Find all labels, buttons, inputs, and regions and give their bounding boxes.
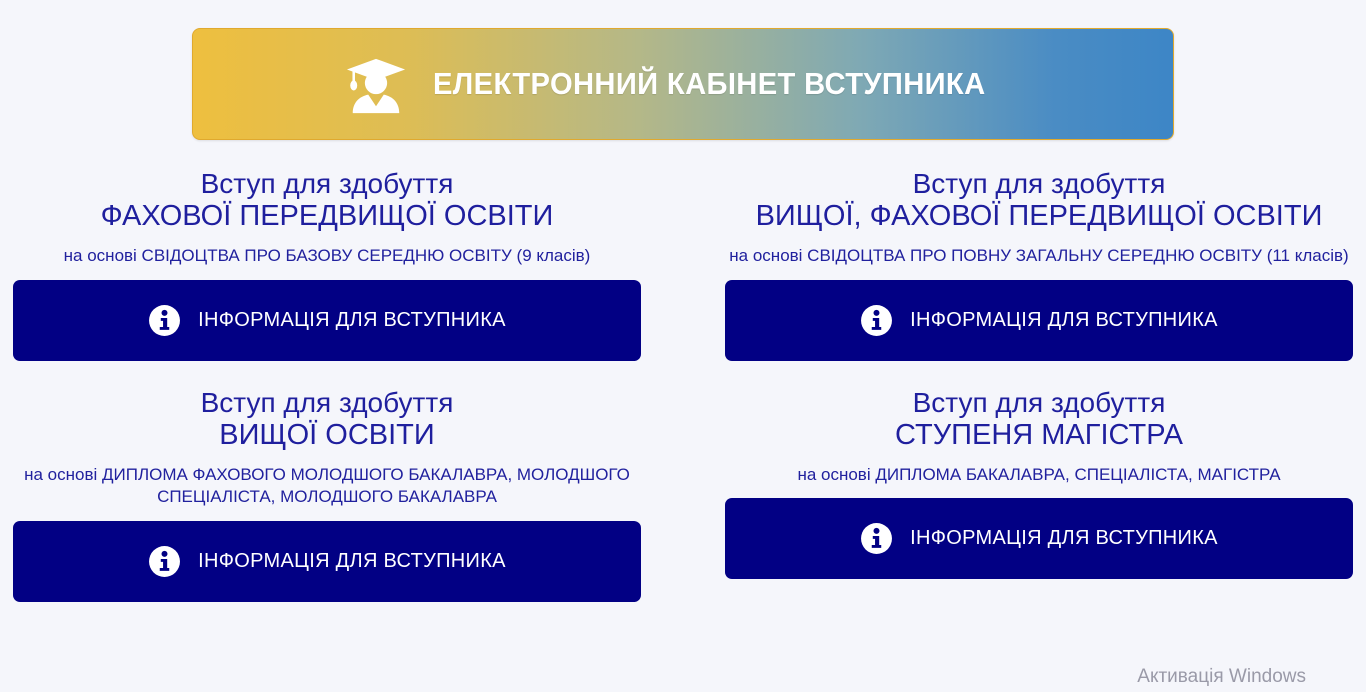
section-stupenya-magistra: Вступ для здобуття СТУПЕНЯ МАГІСТРА на о… bbox=[725, 361, 1353, 602]
info-icon bbox=[860, 522, 893, 555]
section-title: Вступ для здобуття СТУПЕНЯ МАГІСТРА bbox=[725, 387, 1353, 453]
section-title-line1: Вступ для здобуття bbox=[13, 387, 641, 419]
info-icon bbox=[860, 304, 893, 337]
graduate-icon bbox=[345, 53, 407, 115]
info-button-vyshcha-osvita[interactable]: ІНФОРМАЦІЯ ДЛЯ ВСТУПНИКА bbox=[13, 521, 641, 602]
section-subtitle: на основі СВІДОЦТВА ПРО ПОВНУ ЗАГАЛЬНУ С… bbox=[725, 245, 1353, 268]
banner-title: ЕЛЕКТРОННИЙ КАБІНЕТ ВСТУПНИКА bbox=[433, 66, 986, 102]
banner-row: ЕЛЕКТРОННИЙ КАБІНЕТ ВСТУПНИКА bbox=[0, 0, 1366, 140]
section-title: Вступ для здобуття ФАХОВОЇ ПЕРЕДВИЩОЇ ОС… bbox=[13, 168, 641, 234]
section-subtitle: на основі ДИПЛОМА БАКАЛАВРА, СПЕЦІАЛІСТА… bbox=[725, 464, 1353, 487]
info-button-label: ІНФОРМАЦІЯ ДЛЯ ВСТУПНИКА bbox=[198, 309, 506, 332]
section-title-line2: СТУПЕНЯ МАГІСТРА bbox=[725, 419, 1353, 453]
info-button-fahova-peredvyshcha[interactable]: ІНФОРМАЦІЯ ДЛЯ ВСТУПНИКА bbox=[13, 280, 641, 361]
section-subtitle: на основі ДИПЛОМА ФАХОВОГО МОЛОДШОГО БАК… bbox=[13, 464, 641, 509]
section-vyshcha-fahova-peredvyshcha: Вступ для здобуття ВИЩОЇ, ФАХОВОЇ ПЕРЕДВ… bbox=[725, 150, 1353, 361]
info-button-label: ІНФОРМАЦІЯ ДЛЯ ВСТУПНИКА bbox=[198, 550, 506, 573]
section-title-line1: Вступ для здобуття bbox=[725, 387, 1353, 419]
info-icon bbox=[148, 545, 181, 578]
section-title-line2: ВИЩОЇ ОСВІТИ bbox=[13, 419, 641, 453]
section-title: Вступ для здобуття ВИЩОЇ ОСВІТИ bbox=[13, 387, 641, 453]
section-title-line1: Вступ для здобуття bbox=[725, 168, 1353, 200]
app-header-banner: ЕЛЕКТРОННИЙ КАБІНЕТ ВСТУПНИКА bbox=[192, 28, 1174, 140]
section-fahova-peredvyshcha: Вступ для здобуття ФАХОВОЇ ПЕРЕДВИЩОЇ ОС… bbox=[13, 150, 641, 361]
admission-sections-grid: Вступ для здобуття ФАХОВОЇ ПЕРЕДВИЩОЇ ОС… bbox=[0, 150, 1366, 602]
section-subtitle: на основі СВІДОЦТВА ПРО БАЗОВУ СЕРЕДНЮ О… bbox=[13, 245, 641, 268]
info-icon bbox=[148, 304, 181, 337]
section-title-line1: Вступ для здобуття bbox=[13, 168, 641, 200]
info-button-stupenya-magistra[interactable]: ІНФОРМАЦІЯ ДЛЯ ВСТУПНИКА bbox=[725, 498, 1353, 579]
info-button-label: ІНФОРМАЦІЯ ДЛЯ ВСТУПНИКА bbox=[910, 527, 1218, 550]
section-title-line2: ВИЩОЇ, ФАХОВОЇ ПЕРЕДВИЩОЇ ОСВІТИ bbox=[725, 200, 1353, 234]
section-vyshcha-osvita: Вступ для здобуття ВИЩОЇ ОСВІТИ на основ… bbox=[13, 361, 641, 602]
section-title-line2: ФАХОВОЇ ПЕРЕДВИЩОЇ ОСВІТИ bbox=[13, 200, 641, 234]
windows-activation-watermark: Активація Windows bbox=[1137, 666, 1306, 688]
section-title: Вступ для здобуття ВИЩОЇ, ФАХОВОЇ ПЕРЕДВ… bbox=[725, 168, 1353, 234]
info-button-label: ІНФОРМАЦІЯ ДЛЯ ВСТУПНИКА bbox=[910, 309, 1218, 332]
info-button-vyshcha-fahova-peredvyshcha[interactable]: ІНФОРМАЦІЯ ДЛЯ ВСТУПНИКА bbox=[725, 280, 1353, 361]
